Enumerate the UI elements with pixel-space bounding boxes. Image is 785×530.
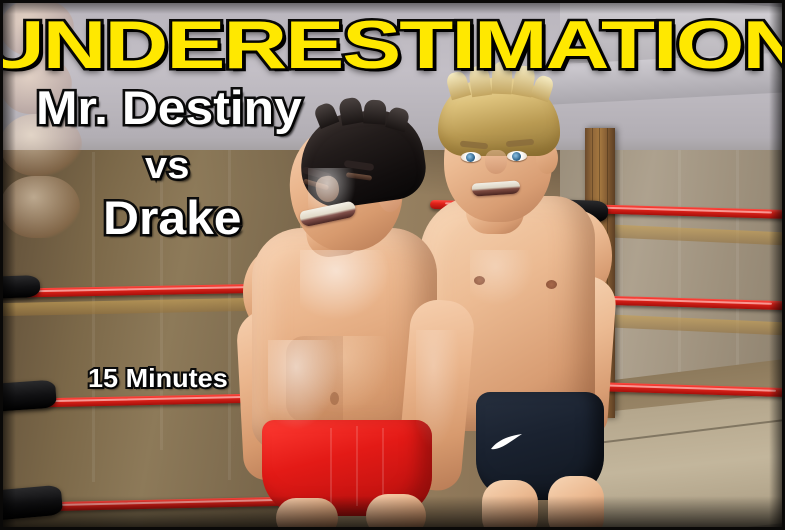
destiny-abs [286,336,398,422]
destiny-navel [330,392,339,405]
wrestler-drake [0,0,785,114]
trunks-fold [356,426,358,506]
drake-nose [485,150,507,174]
drake-iris [466,153,475,162]
wrestlers-group [0,0,785,530]
drake-detail [546,280,557,289]
drake-eye-left [461,152,481,162]
destiny-pec-left [0,114,82,176]
drake-pec-left [0,0,74,56]
drake-pec-right [0,56,72,114]
drake-hair-spike [445,70,471,101]
drake-iris [512,152,521,161]
drake-leg-left [482,480,538,530]
destiny-leg-left [276,498,338,530]
photo-background [0,0,785,530]
swoosh-icon [490,434,528,449]
drake-leg-right [548,476,604,530]
drake-hair-spike [491,62,512,95]
poster: UNDERESTIMATION Mr. Destiny vs Drake 15 … [0,0,785,530]
trunks-fold [382,428,384,502]
trunks-fold [330,428,332,504]
drake-eye-right [507,151,527,161]
destiny-pec-right [0,176,80,238]
drake-hair-spike [468,65,492,97]
destiny-hair-spike [363,99,387,124]
destiny-leg-right [366,494,426,530]
wrestler-mr-destiny [0,114,785,238]
drake-detail [474,276,485,285]
